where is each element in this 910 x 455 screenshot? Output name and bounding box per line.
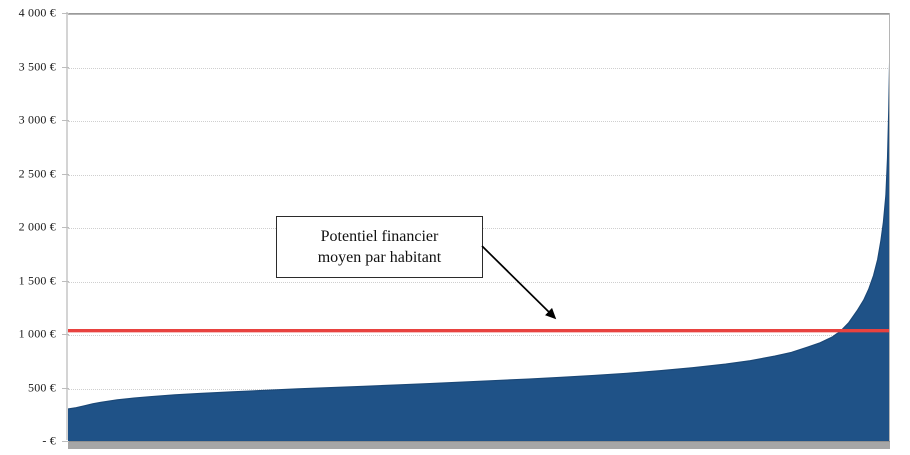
annotation-line-1: Potentiel financier xyxy=(321,226,439,247)
y-axis-tick-mark xyxy=(62,174,69,175)
y-axis-tick-label: 1 500 € xyxy=(19,273,56,288)
y-axis-tick-mark xyxy=(62,441,69,442)
y-axis-tick-label: 500 € xyxy=(28,380,56,395)
y-axis-tick-mark xyxy=(62,120,69,121)
y-axis-tick-label: 3 000 € xyxy=(19,113,56,128)
plot-right-border xyxy=(889,13,890,441)
y-axis: 4 000 €3 500 €3 000 €2 500 €2 000 €1 500… xyxy=(0,0,56,455)
y-axis-tick-mark xyxy=(62,227,69,228)
y-axis-tick-label: - € xyxy=(42,434,56,449)
y-axis-tick-label: 3 500 € xyxy=(19,59,56,74)
y-axis-tick-label: 1 000 € xyxy=(19,327,56,342)
annotation-line-2: moyen par habitant xyxy=(318,247,442,268)
y-axis-tick-label: 4 000 € xyxy=(19,6,56,21)
y-axis-tick-mark xyxy=(62,13,69,14)
category-axis xyxy=(68,441,890,449)
y-axis-tick-label: 2 000 € xyxy=(19,220,56,235)
annotation-callout: Potentiel financier moyen par habitant xyxy=(276,216,483,278)
y-axis-tick-mark xyxy=(62,388,69,389)
y-axis-tick-mark xyxy=(62,281,69,282)
chart-container: 4 000 €3 500 €3 000 €2 500 €2 000 €1 500… xyxy=(0,0,910,455)
y-axis-tick-mark xyxy=(62,334,69,335)
mean-reference-line xyxy=(68,329,890,332)
y-axis-tick-mark xyxy=(62,67,69,68)
y-axis-tick-label: 2 500 € xyxy=(19,166,56,181)
